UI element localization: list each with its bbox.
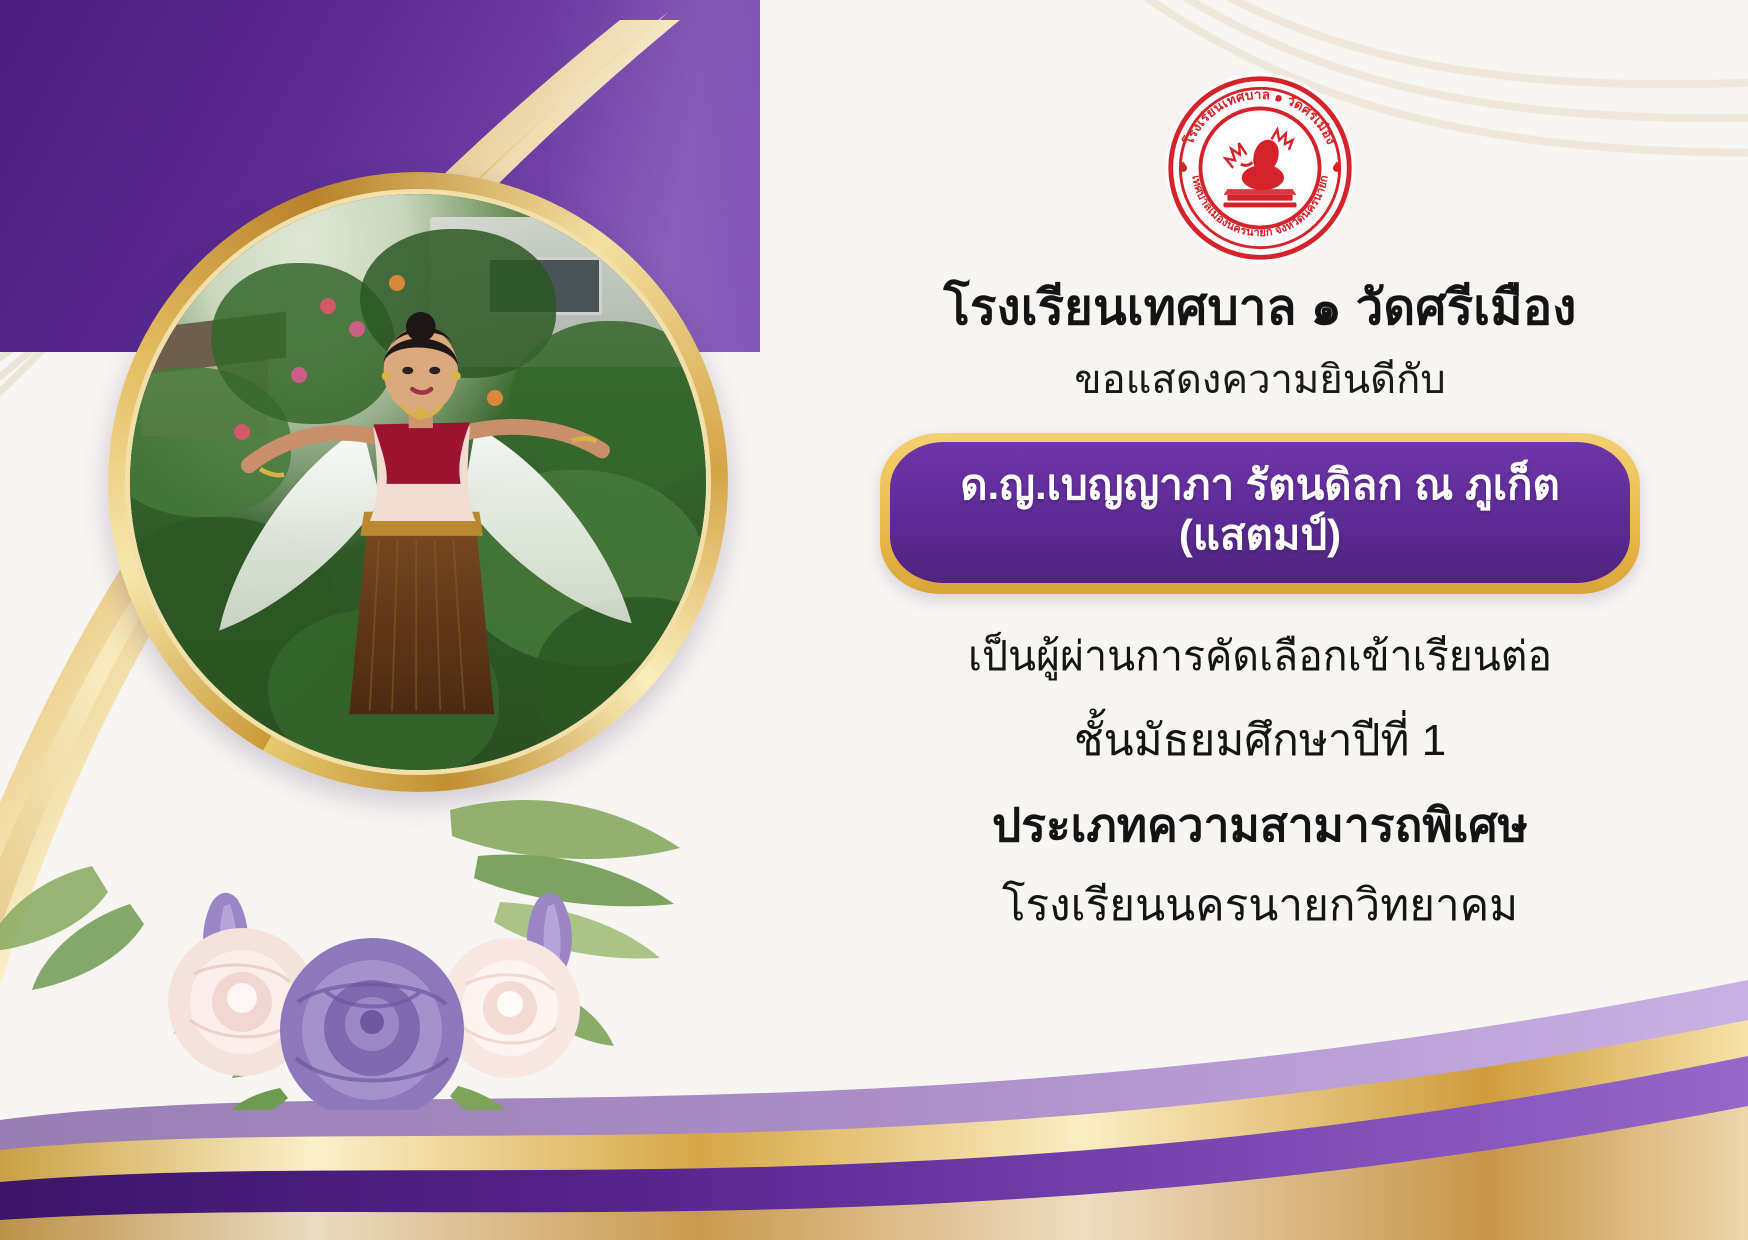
dancer-figure [130,194,706,770]
page-title: โรงเรียนเทศบาล ๑ วัดศรีเมือง [944,280,1577,337]
grade-level: ชั้นมัธยมศึกษาปีที่ 1 [1074,705,1447,775]
school-seal-icon: โรงเรียนเทศบาล ๑ วัดศรีเมือง เทศบาลเมือง… [1164,72,1356,264]
watercolor-flowers-decor [0,690,740,1110]
poster-content-column: โรงเรียนเทศบาล ๑ วัดศรีเมือง เทศบาลเมือง… [880,60,1640,940]
congrats-label: ขอแสดงความยินดีกับ [1074,347,1445,411]
destination-school: โรงเรียนนครนายกวิทยาคม [1002,870,1518,940]
student-name-badge-inner: ด.ญ.เบญญาภา รัตนดิลก ณ ภูเก็ต (แสตมป์) [890,442,1630,583]
photo-image [125,189,711,775]
congratulations-poster: โรงเรียนเทศบาล ๑ วัดศรีเมือง เทศบาลเมือง… [0,0,1748,1240]
student-name-badge: ด.ญ.เบญญาภา รัตนดิลก ณ ภูเก็ต (แสตมป์) [880,433,1640,594]
student-nickname: (แสตมป์) [916,510,1604,560]
passed-text: เป็นผู้ผ่านการคัดเลือกเข้าเรียนต่อ [968,624,1552,689]
student-name: ด.ญ.เบญญาภา รัตนดิลก ณ ภูเก็ต [916,460,1604,510]
admission-type: ประเภทความสามารถพิเศษ [992,789,1528,862]
purple-peony-center [280,938,464,1110]
